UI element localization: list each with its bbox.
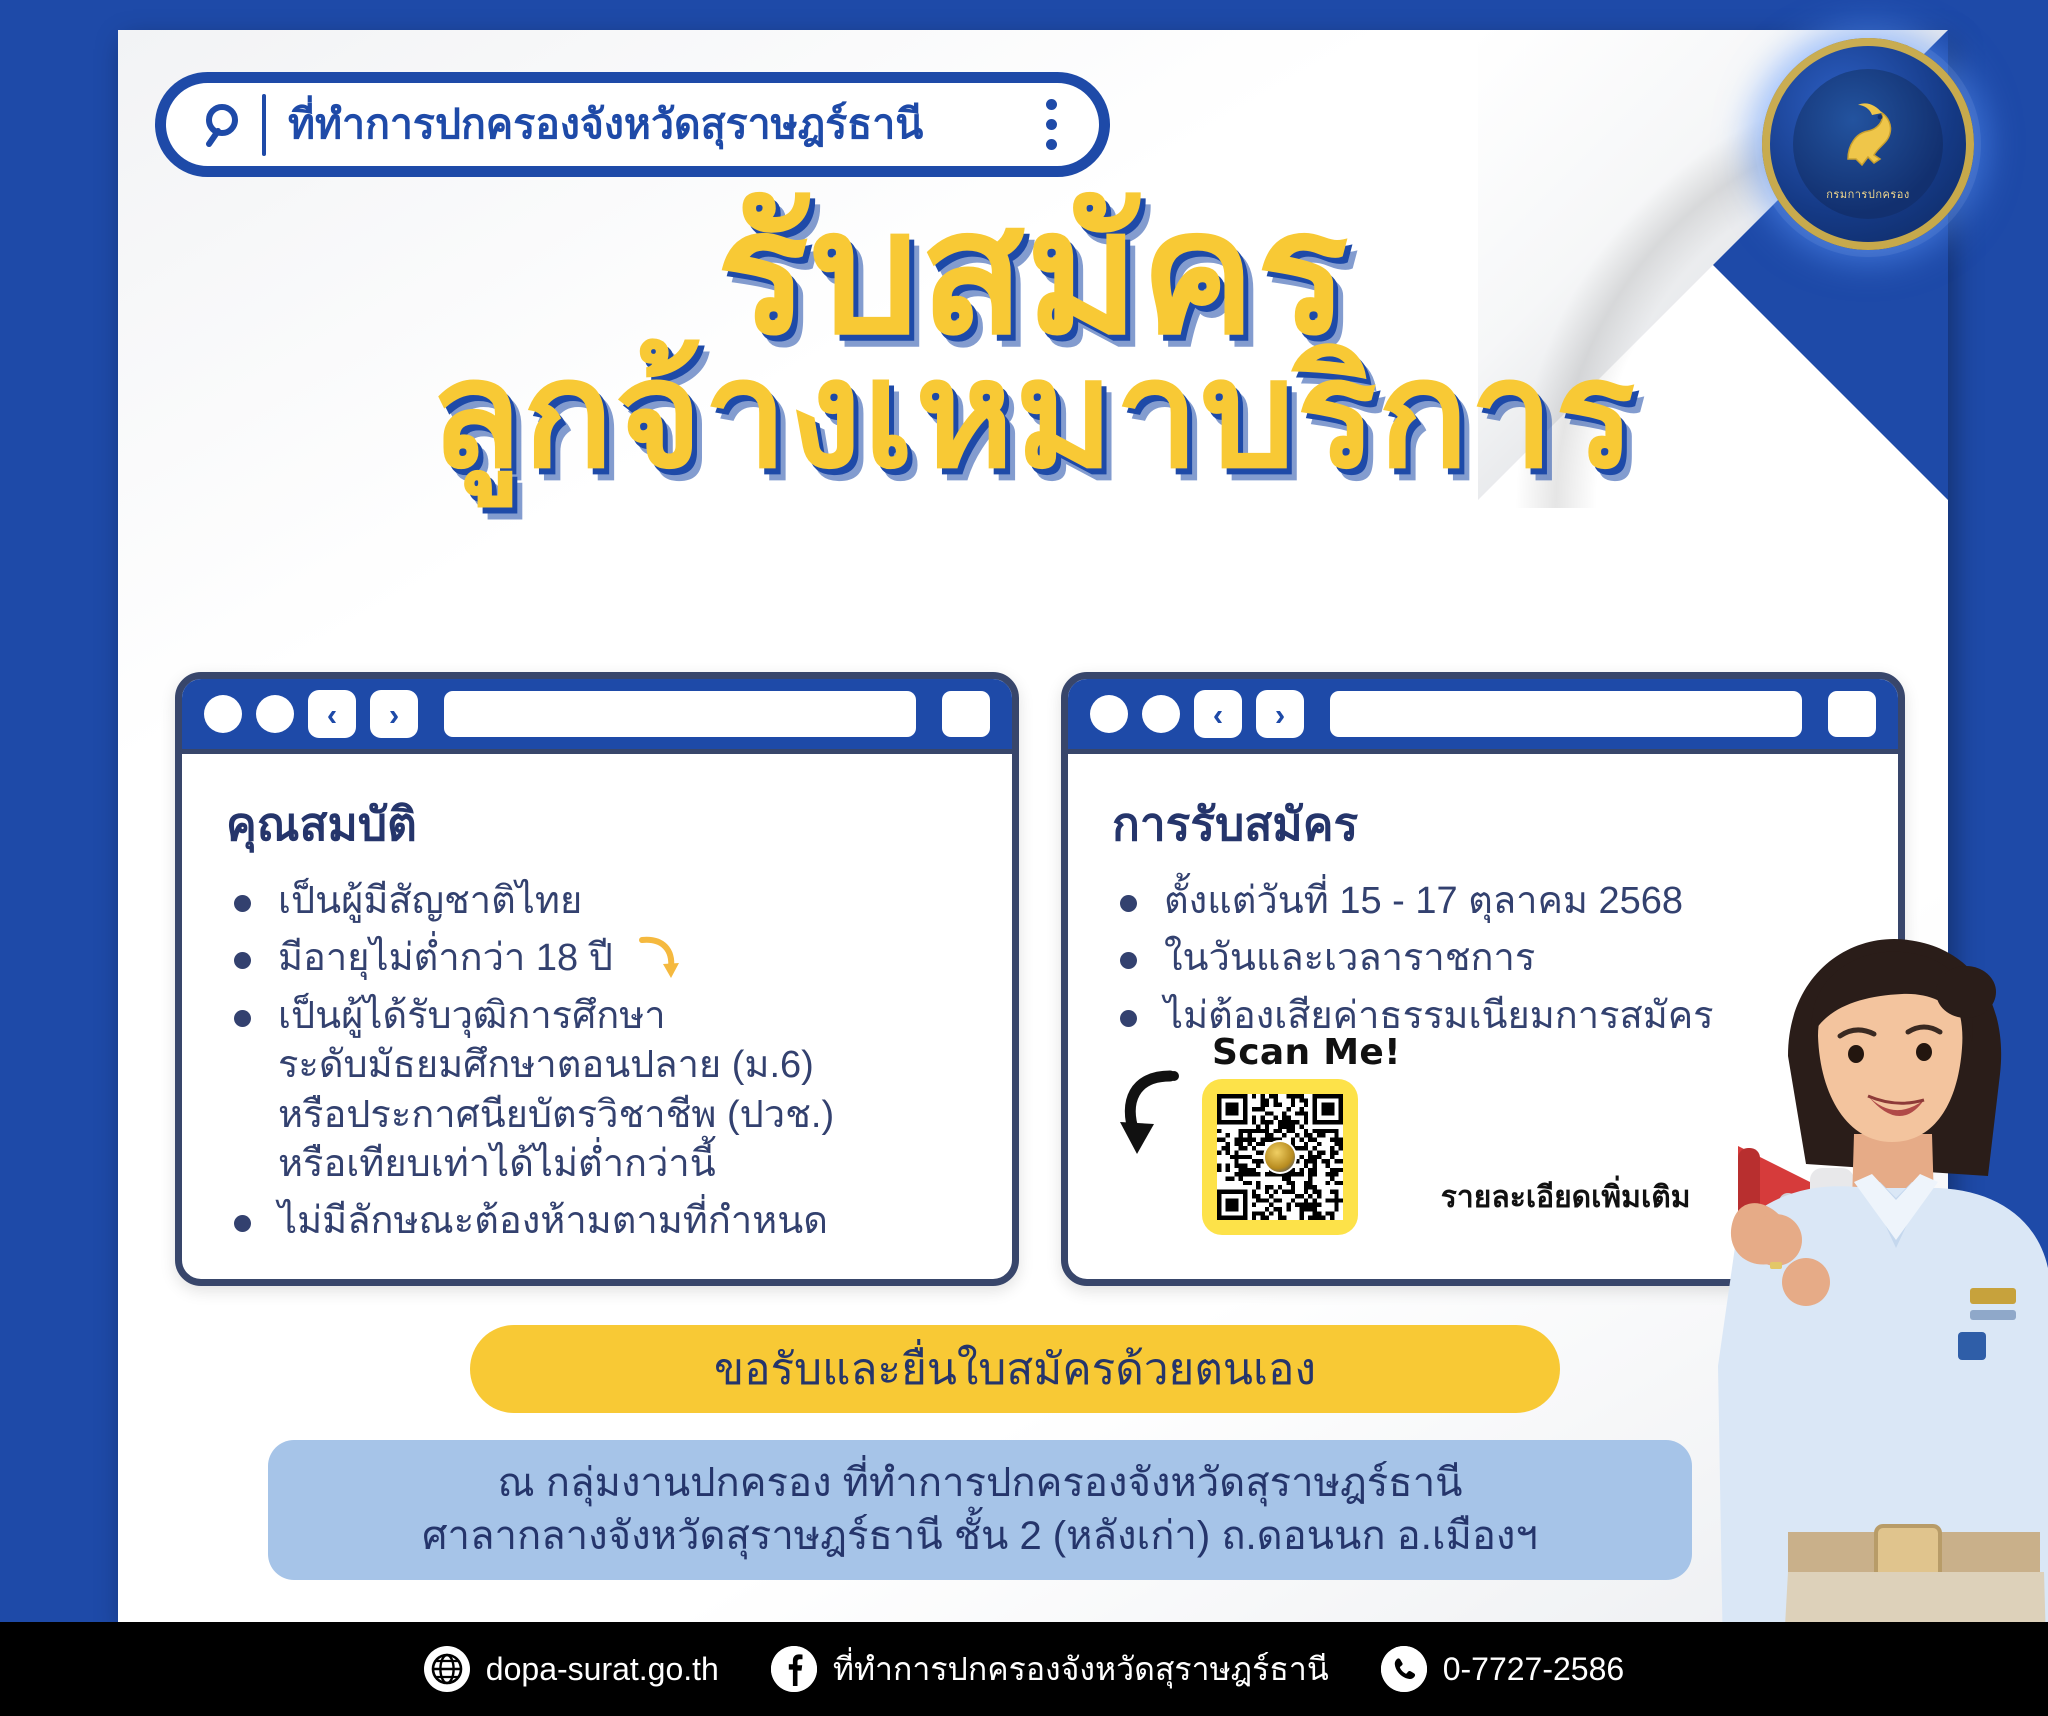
- search-bar[interactable]: ที่ทำการปกครองจังหวัดสุราษฎร์ธานี: [155, 72, 1110, 177]
- footer-bar: dopa-surat.go.th ที่ทำการปกครองจังหวัดสุ…: [0, 1622, 2048, 1716]
- kebab-menu-icon[interactable]: [1046, 99, 1069, 150]
- card-application: ‹ › การรับสมัคร ตั้งแต่วันที่ 15 - 17 ตุ…: [1061, 672, 1905, 1286]
- yellow-banner: ขอรับและยื่นใบสมัครด้วยตนเอง: [470, 1325, 1560, 1413]
- phone-icon: [1381, 1646, 1427, 1692]
- bullet-text: ในวันและเวลาราชการ: [1164, 937, 1535, 979]
- list-item: เป็นผู้มีสัญชาติไทย: [226, 877, 972, 926]
- scan-column: Scan Me!: [1202, 1032, 1401, 1235]
- curved-arrow-icon: [1108, 1062, 1188, 1172]
- bullet-subline: ระดับมัธยมศึกษาตอนปลาย (ม.6): [278, 1041, 972, 1090]
- footer-phone-text: 0-7727-2586: [1443, 1651, 1624, 1688]
- window-dot-icon[interactable]: [1090, 695, 1128, 733]
- back-arrow-icon[interactable]: ‹: [308, 690, 356, 738]
- footer-item-phone[interactable]: 0-7727-2586: [1381, 1646, 1624, 1692]
- orange-curved-arrow-icon: [637, 934, 683, 995]
- address-block: ณ กลุ่มงานปกครอง ที่ทำการปกครองจังหวัดสุ…: [268, 1440, 1692, 1580]
- browser-chrome: ‹ ›: [182, 679, 1012, 754]
- yellow-banner-text: ขอรับและยื่นใบสมัครด้วยตนเอง: [714, 1334, 1316, 1404]
- address-bar[interactable]: [1330, 691, 1802, 737]
- globe-icon: [424, 1646, 470, 1692]
- forward-arrow-icon[interactable]: ›: [1256, 690, 1304, 738]
- bullet-text: มีอายุไม่ต่ำกว่า 18 ปี: [278, 937, 613, 979]
- list-item: ไม่มีลักษณะต้องห้ามตามที่กำหนด: [226, 1197, 972, 1246]
- scan-me-label: Scan Me!: [1212, 1032, 1401, 1073]
- card-heading: คุณสมบัติ: [226, 788, 972, 861]
- footer-website-text: dopa-surat.go.th: [486, 1651, 719, 1688]
- card-heading: การรับสมัคร: [1112, 788, 1858, 861]
- bullet-text: เป็นผู้ได้รับวุฒิการศึกษา: [278, 995, 666, 1037]
- search-icon: [196, 99, 256, 151]
- more-detail-label: รายละเอียดเพิ่มเติม: [1441, 1174, 1691, 1221]
- footer-item-website[interactable]: dopa-surat.go.th: [424, 1646, 719, 1692]
- application-list: ตั้งแต่วันที่ 15 - 17 ตุลาคม 2568 ในวันแ…: [1112, 877, 1858, 1041]
- bullet-text: เป็นผู้มีสัญชาติไทย: [278, 880, 582, 922]
- window-dot-icon[interactable]: [204, 695, 242, 733]
- bullet-subline: หรือเทียบเท่าได้ไม่ต่ำกว่านี้: [278, 1140, 972, 1189]
- card-body: การรับสมัคร ตั้งแต่วันที่ 15 - 17 ตุลาคม…: [1068, 754, 1898, 1286]
- list-item: มีอายุไม่ต่ำกว่า 18 ปี: [226, 934, 972, 983]
- window-square-icon[interactable]: [1828, 691, 1876, 737]
- scan-block: Scan Me! รายละเอียดเพิ่มเติม: [1108, 1032, 1690, 1235]
- window-dot-icon[interactable]: [1142, 695, 1180, 733]
- poster-root: ที่ทำการปกครองจังหวัดสุราษฎร์ธานี กรมการ…: [0, 0, 2048, 1716]
- window-dot-icon[interactable]: [256, 695, 294, 733]
- qr-code-container[interactable]: [1202, 1079, 1358, 1235]
- card-body: คุณสมบัติ เป็นผู้มีสัญชาติไทย มีอายุไม่ต…: [182, 754, 1012, 1286]
- list-item: ในวันและเวลาราชการ: [1112, 934, 1858, 983]
- info-cards: ‹ › คุณสมบัติ เป็นผู้มีสัญชาติไทย มีอายุ…: [175, 672, 1905, 1286]
- bullet-text: ไม่มีลักษณะต้องห้ามตามที่กำหนด: [278, 1200, 828, 1242]
- bullet-text: ตั้งแต่วันที่ 15 - 17 ตุลาคม 2568: [1164, 880, 1683, 922]
- back-arrow-icon[interactable]: ‹: [1194, 690, 1242, 738]
- qualification-list: เป็นผู้มีสัญชาติไทย มีอายุไม่ต่ำกว่า 18 …: [226, 877, 972, 1247]
- footer-item-facebook[interactable]: ที่ทำการปกครองจังหวัดสุราษฎร์ธานี: [771, 1644, 1329, 1695]
- window-square-icon[interactable]: [942, 691, 990, 737]
- footer-facebook-text: ที่ทำการปกครองจังหวัดสุราษฎร์ธานี: [833, 1644, 1329, 1695]
- list-item: เป็นผู้ได้รับวุฒิการศึกษา ระดับมัธยมศึกษ…: [226, 992, 972, 1190]
- office-name-text: ที่ทำการปกครองจังหวัดสุราษฎร์ธานี: [288, 92, 1046, 157]
- qr-center-emblem-icon: [1263, 1140, 1297, 1174]
- address-line-1: ณ กลุ่มงานปกครอง ที่ทำการปกครองจังหวัดสุ…: [498, 1458, 1463, 1509]
- forward-arrow-icon[interactable]: ›: [370, 690, 418, 738]
- list-item: ตั้งแต่วันที่ 15 - 17 ตุลาคม 2568: [1112, 877, 1858, 926]
- emblem-figure-icon: [1818, 87, 1918, 201]
- search-divider: [262, 94, 266, 156]
- address-bar[interactable]: [444, 691, 916, 737]
- title-line-2: ลูกจ้างเหมาบริการ: [118, 343, 1948, 489]
- browser-chrome: ‹ ›: [1068, 679, 1898, 754]
- qr-code[interactable]: [1217, 1094, 1343, 1220]
- address-line-2: ศาลากลางจังหวัดสุราษฎร์ธานี ชั้น 2 (หลัง…: [422, 1511, 1538, 1562]
- bullet-subline: หรือประกาศนียบัตรวิชาชีพ (ปวช.): [278, 1091, 972, 1140]
- facebook-icon: [771, 1646, 817, 1692]
- bullet-text: ไม่ต้องเสียค่าธรรมเนียมการสมัคร: [1164, 995, 1714, 1037]
- poster-title: รับสมัคร ลูกจ้างเหมาบริการ: [118, 190, 1948, 488]
- card-qualifications: ‹ › คุณสมบัติ เป็นผู้มีสัญชาติไทย มีอายุ…: [175, 672, 1019, 1286]
